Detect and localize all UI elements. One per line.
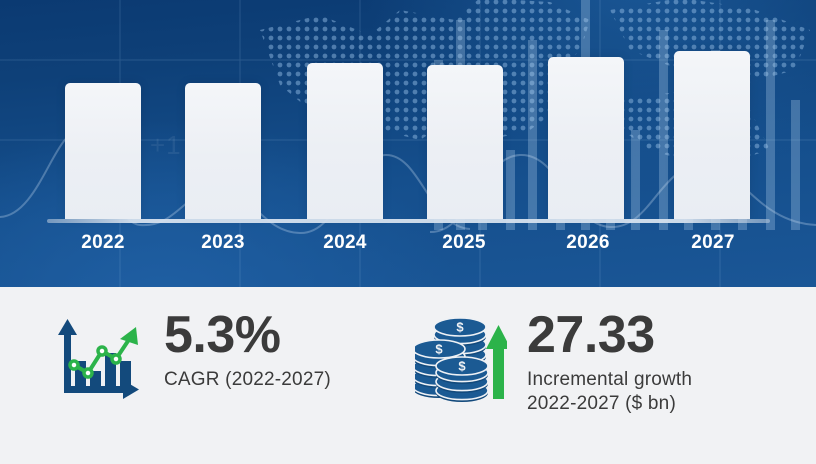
stat-incremental-growth-value: 27.33 bbox=[527, 309, 692, 362]
coin-stack-growth-icon: $ $ bbox=[415, 315, 507, 412]
bar-2023[interactable] bbox=[185, 83, 261, 219]
stat-cagr-text: 5.3% CAGR (2022-2027) bbox=[164, 309, 331, 392]
x-axis-label-2026: 2026 bbox=[533, 232, 643, 254]
x-axis-label-2024: 2024 bbox=[290, 232, 400, 254]
stat-incremental-growth: $ $ bbox=[415, 309, 692, 416]
stats-panel: 5.3% CAGR (2022-2027) bbox=[0, 287, 816, 464]
stat-cagr-label: CAGR (2022-2027) bbox=[164, 368, 331, 392]
chart-hero-panel: +1 2022 2023 2024 2025 2026 2027 bbox=[0, 0, 816, 287]
bar-chart-plot: 2022 2023 2024 2025 2026 2027 bbox=[0, 0, 816, 287]
svg-text:$: $ bbox=[435, 342, 443, 357]
chart-baseline-axis bbox=[47, 219, 770, 223]
stat-cagr: 5.3% CAGR (2022-2027) bbox=[48, 309, 331, 412]
stat-incremental-growth-text: 27.33 Incremental growth 2022-2027 ($ bn… bbox=[527, 309, 692, 416]
stat-incremental-growth-label: Incremental growth 2022-2027 ($ bn) bbox=[527, 368, 692, 416]
bar-2022[interactable] bbox=[65, 83, 141, 219]
svg-text:$: $ bbox=[458, 359, 466, 374]
x-axis-label-2023: 2023 bbox=[168, 232, 278, 254]
stat-cagr-value: 5.3% bbox=[164, 309, 331, 362]
x-axis-label-2025: 2025 bbox=[409, 232, 519, 254]
x-axis-label-2027: 2027 bbox=[658, 232, 768, 254]
bar-2026[interactable] bbox=[548, 57, 624, 219]
bar-2025[interactable] bbox=[427, 65, 503, 219]
svg-text:$: $ bbox=[456, 320, 464, 335]
bar-2024[interactable] bbox=[307, 63, 383, 219]
bar-2027[interactable] bbox=[674, 51, 750, 219]
x-axis-label-2022: 2022 bbox=[48, 232, 158, 254]
infographic-root: +1 2022 2023 2024 2025 2026 2027 bbox=[0, 0, 816, 464]
bar-chart-growth-icon bbox=[48, 315, 144, 412]
